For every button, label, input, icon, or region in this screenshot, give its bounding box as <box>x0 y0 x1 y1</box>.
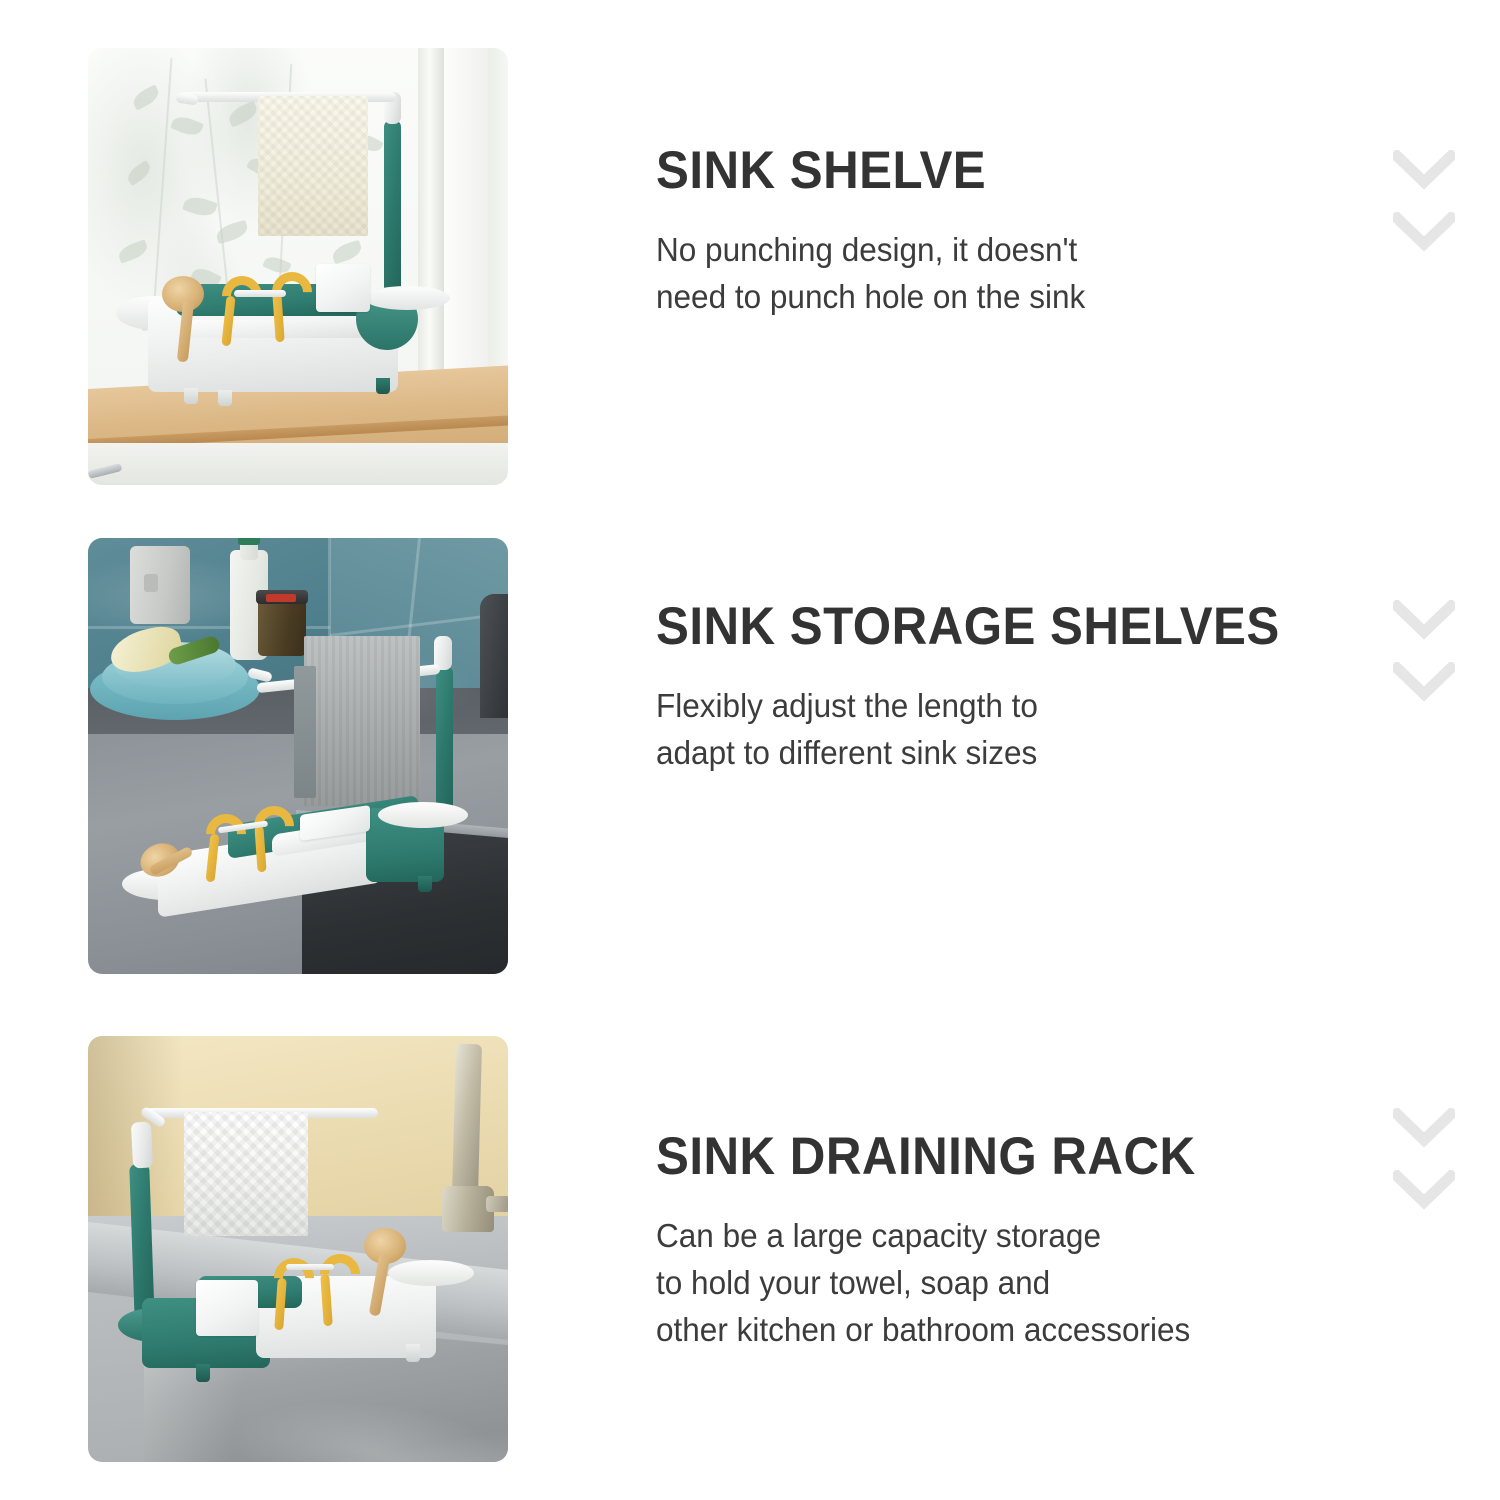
page-title: SINK SHELVE <box>656 144 1422 197</box>
feature-description: Flexibly adjust the length to adapt to d… <box>656 683 1443 777</box>
scene-window-sill <box>88 48 508 485</box>
page-title: SINK STORAGE SHELVES <box>656 600 1422 653</box>
chevron-down-icon <box>1393 1170 1455 1210</box>
chevron-down-icon <box>1393 212 1455 252</box>
feature-copy-2: SINK STORAGE SHELVES Flexibly adjust the… <box>508 538 1500 777</box>
feature-block-2: SINK STORAGE SHELVES Flexibly adjust the… <box>0 538 1500 978</box>
feature-block-3: SINK DRAINING RACK Can be a large capaci… <box>0 1036 1500 1466</box>
towel <box>184 1112 308 1236</box>
feature-description: Can be a large capacity storage to hold … <box>656 1213 1443 1354</box>
sponge <box>316 264 370 312</box>
product-infographic: SINK SHELVE No punching design, it doesn… <box>0 0 1500 1500</box>
towel <box>258 96 368 236</box>
sponge <box>196 1280 258 1336</box>
faucet <box>452 1044 482 1195</box>
chevron-down-icon <box>1393 662 1455 702</box>
chevron-down-icon <box>1393 150 1455 190</box>
product-photo-3 <box>88 1036 508 1462</box>
chevron-down-icon <box>1393 1108 1455 1148</box>
scene-tiled-kitchen <box>88 538 508 974</box>
feature-block-1: SINK SHELVE No punching design, it doesn… <box>0 48 1500 498</box>
product-photo-1 <box>88 48 508 485</box>
feature-copy-3: SINK DRAINING RACK Can be a large capaci… <box>508 1036 1500 1354</box>
chevron-group-2 <box>1364 600 1484 702</box>
page-title: SINK DRAINING RACK <box>656 1130 1422 1183</box>
feature-description: No punching design, it doesn't need to p… <box>656 227 1443 321</box>
product-photo-2 <box>88 538 508 974</box>
jar <box>258 596 306 656</box>
canister <box>130 546 190 624</box>
feature-copy-1: SINK SHELVE No punching design, it doesn… <box>508 48 1500 321</box>
scene-stainless-sink <box>88 1036 508 1462</box>
towel <box>304 636 420 806</box>
chevron-group-3 <box>1364 1108 1484 1210</box>
chevron-group-1 <box>1364 150 1484 252</box>
faucet <box>480 594 508 718</box>
chevron-down-icon <box>1393 600 1455 640</box>
